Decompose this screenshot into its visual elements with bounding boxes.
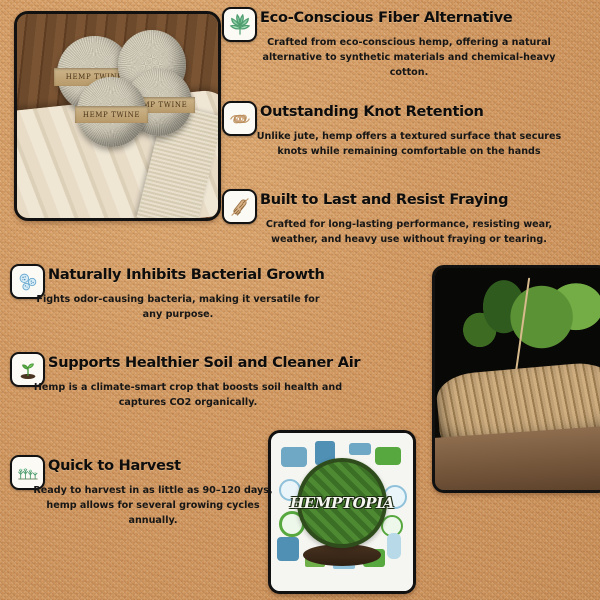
- feature-title: Eco-Conscious Fiber Alternative: [260, 10, 513, 26]
- product-icon: [281, 447, 307, 467]
- bottle-icon: [387, 533, 401, 559]
- feature-title: Quick to Harvest: [48, 458, 181, 474]
- feature-title: Outstanding Knot Retention: [260, 104, 484, 120]
- stone-ledge: [432, 426, 600, 493]
- product-icon: [375, 447, 401, 465]
- feature-body: Fights odor-causing bacteria, making it …: [28, 292, 328, 322]
- feature-title: Built to Last and Resist Fraying: [260, 192, 508, 208]
- hemptopia-logo-tile: HEMPTOPIA: [268, 430, 416, 594]
- twine-ball: HEMP TWINE: [77, 77, 145, 146]
- product-icon: [277, 537, 299, 561]
- product-icon: [349, 443, 371, 455]
- hemp-twine-photo: HEMP TWINE HEMP TWINE HEMP TWINE: [14, 11, 221, 221]
- feature-title: Naturally Inhibits Bacterial Growth: [48, 267, 325, 283]
- feature-body: Unlike jute, hemp offers a textured surf…: [244, 129, 574, 159]
- feature-body: Ready to harvest in as little as 90–120 …: [28, 483, 278, 528]
- feature-body: Crafted from eco-conscious hemp, offerin…: [244, 35, 574, 80]
- feature-title: Supports Healthier Soil and Cleaner Air: [48, 355, 360, 371]
- hemp-spool-photo: [432, 265, 600, 493]
- feature-body: Hemp is a climate-smart crop that boosts…: [28, 380, 348, 410]
- twine-ball-label: HEMP TWINE: [75, 106, 149, 123]
- hemptopia-wordmark: HEMPTOPIA: [290, 494, 394, 512]
- feature-body: Crafted for long-lasting performance, re…: [244, 217, 574, 247]
